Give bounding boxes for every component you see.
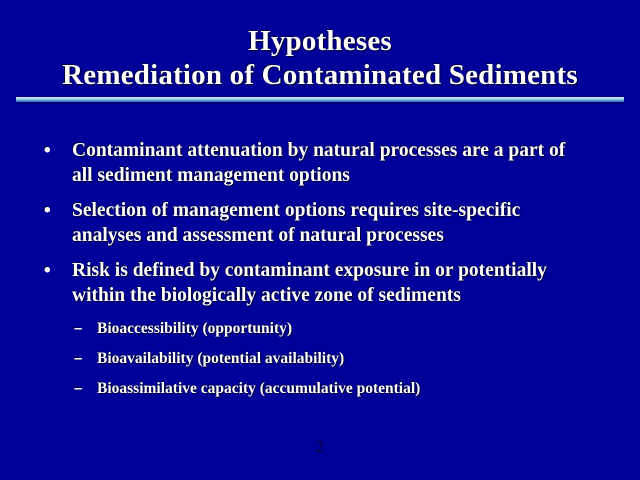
sub-list-item-text: Bioaccessibility (opportunity) <box>97 318 547 340</box>
slide-title-line-1: Hypotheses <box>0 24 640 58</box>
list-item: • Risk is defined by contaminant exposur… <box>0 258 640 308</box>
list-item-text: Selection of management options requires… <box>72 198 572 248</box>
list-item-text: Risk is defined by contaminant exposure … <box>72 258 572 308</box>
title-divider-shadow <box>18 102 624 104</box>
slide-page-number: 2 <box>0 437 640 457</box>
slide-title-line-2: Remediation of Contaminated Sediments <box>0 58 640 92</box>
bullet-dash-icon: – <box>74 348 97 370</box>
list-item-text: Contaminant attenuation by natural proce… <box>72 138 572 188</box>
presentation-slide: Hypotheses Remediation of Contaminated S… <box>0 0 640 480</box>
bullet-dot-icon: • <box>44 198 72 223</box>
bullet-dot-icon: • <box>44 138 72 163</box>
sub-list-item: – Bioassimilative capacity (accumulative… <box>0 378 640 400</box>
bullet-dash-icon: – <box>74 318 97 340</box>
sub-list-item: – Bioavailability (potential availabilit… <box>0 348 640 370</box>
slide-body: • Contaminant attenuation by natural pro… <box>0 138 640 408</box>
sub-list-item-text: Bioavailability (potential availability) <box>97 348 547 370</box>
sub-list-item: – Bioaccessibility (opportunity) <box>0 318 640 340</box>
list-item: • Contaminant attenuation by natural pro… <box>0 138 640 188</box>
slide-title: Hypotheses Remediation of Contaminated S… <box>0 24 640 92</box>
sub-list-item-text: Bioassimilative capacity (accumulative p… <box>97 378 547 400</box>
bullet-dash-icon: – <box>74 378 97 400</box>
title-divider <box>16 96 624 104</box>
list-item: • Selection of management options requir… <box>0 198 640 248</box>
bullet-dot-icon: • <box>44 258 72 283</box>
